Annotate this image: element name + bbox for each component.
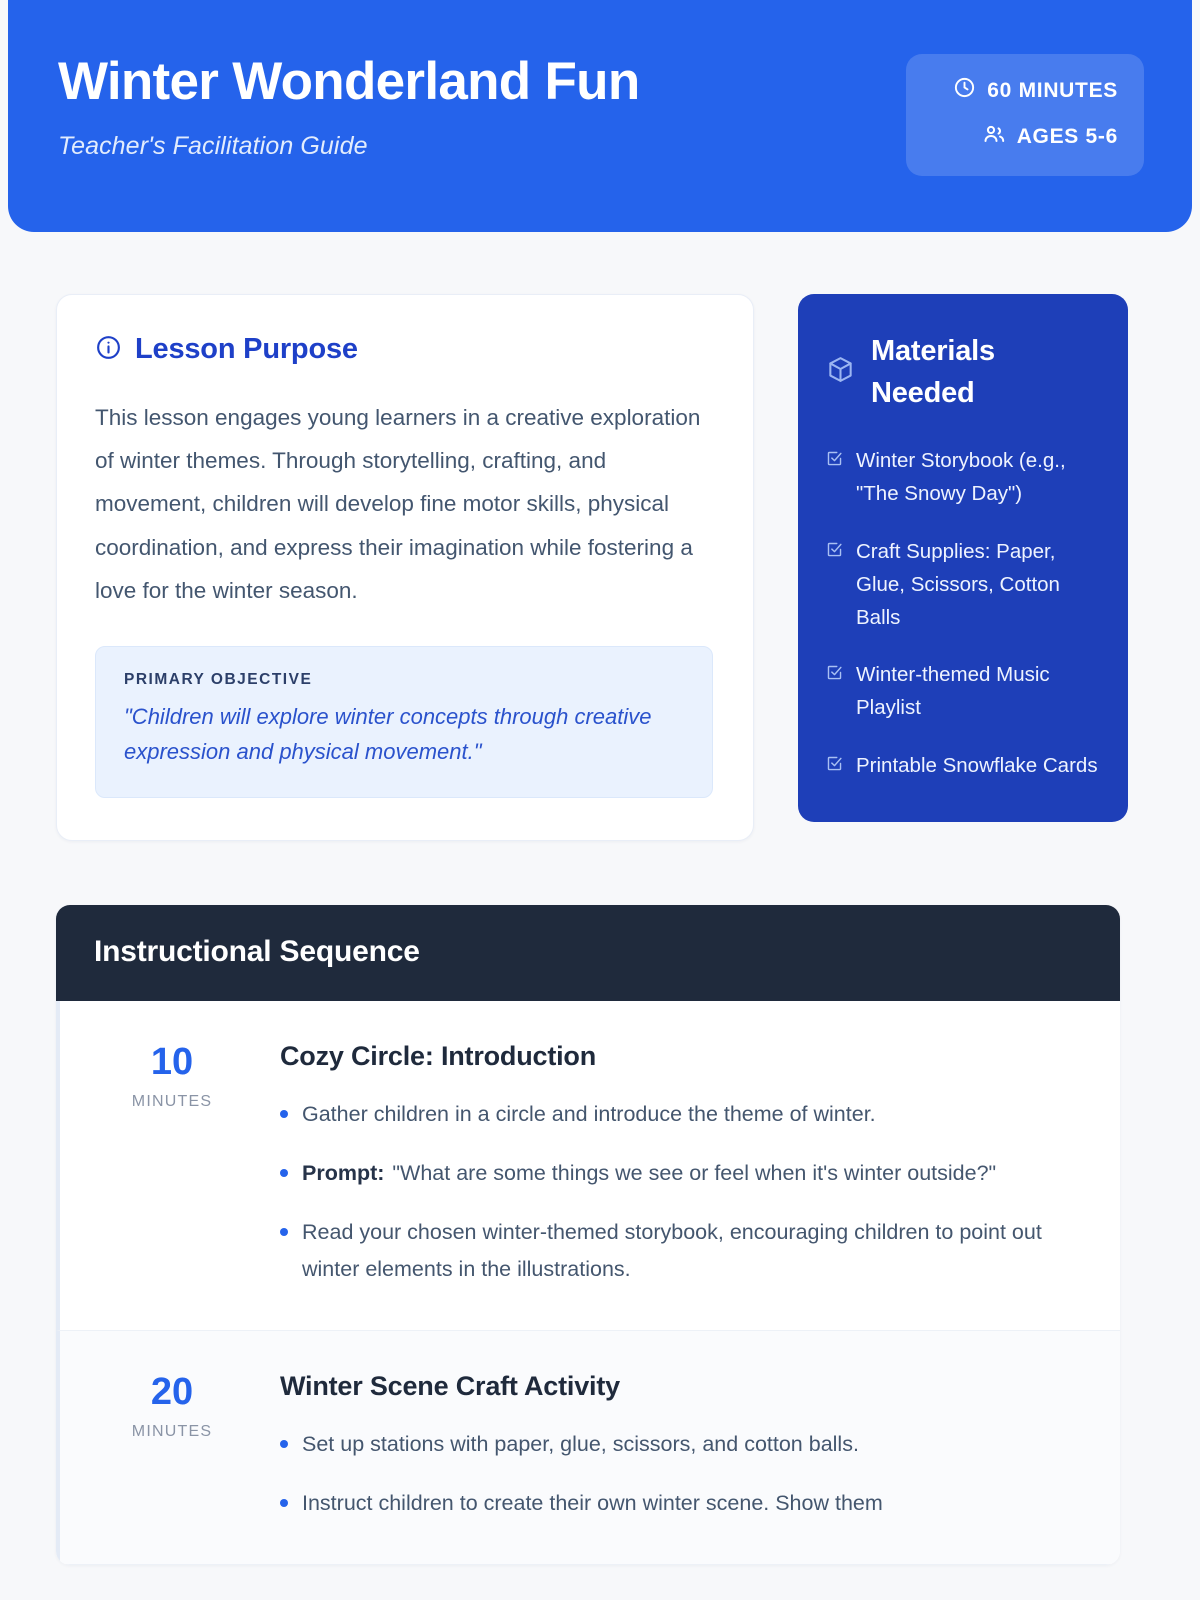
primary-objective-label: PRIMARY OBJECTIVE (124, 671, 684, 689)
bullet-dot-icon (280, 1228, 288, 1236)
materials-header: Materials Needed (826, 330, 1098, 414)
material-label: Winter-themed Music Playlist (856, 658, 1098, 724)
list-item: Craft Supplies: Paper, Glue, Scissors, C… (826, 535, 1098, 635)
step-duration: 20 MINUTES (94, 1369, 250, 1522)
step-bullet-list: Set up stations with paper, glue, scisso… (280, 1426, 1080, 1522)
check-square-icon (826, 535, 843, 568)
step-bullet-list: Gather children in a circle and introduc… (280, 1096, 1080, 1288)
bullet-text: Instruct children to create their own wi… (302, 1485, 1080, 1522)
bullet-text: Set up stations with paper, glue, scisso… (302, 1426, 1080, 1463)
step-minutes-value: 20 (94, 1373, 250, 1411)
materials-needed-card: Materials Needed Winter Storybook (e.g.,… (798, 294, 1128, 822)
check-square-icon (826, 658, 843, 691)
list-item: Prompt:"What are some things we see or f… (280, 1155, 1080, 1192)
bullet-dot-icon (280, 1499, 288, 1507)
bullet-dot-icon (280, 1440, 288, 1448)
material-label: Printable Snowflake Cards (856, 749, 1098, 782)
lesson-purpose-title: Lesson Purpose (135, 333, 358, 366)
lesson-purpose-card: Lesson Purpose This lesson engages young… (56, 294, 754, 841)
bullet-text: Gather children in a circle and introduc… (302, 1096, 1080, 1133)
clock-icon (953, 76, 976, 105)
step-duration: 10 MINUTES (94, 1039, 250, 1288)
material-label: Winter Storybook (e.g., "The Snowy Day") (856, 444, 1098, 510)
header-text-group: Winter Wonderland Fun Teacher's Facilita… (58, 50, 640, 161)
step-title: Cozy Circle: Introduction (280, 1041, 1080, 1072)
lesson-purpose-header: Lesson Purpose (95, 333, 713, 366)
page-header: Winter Wonderland Fun Teacher's Facilita… (8, 0, 1192, 232)
materials-title: Materials Needed (871, 330, 1098, 414)
users-icon (982, 122, 1006, 152)
instructional-sequence-header: Instructional Sequence (56, 905, 1120, 1001)
list-item: Winter Storybook (e.g., "The Snowy Day") (826, 444, 1098, 510)
sequence-step: 10 MINUTES Cozy Circle: Introduction Gat… (56, 1001, 1120, 1331)
material-label: Craft Supplies: Paper, Glue, Scissors, C… (856, 535, 1098, 635)
ages-row: AGES 5-6 (932, 122, 1118, 152)
duration-label: 60 MINUTES (987, 79, 1118, 103)
list-item: Winter-themed Music Playlist (826, 658, 1098, 724)
primary-objective-callout: PRIMARY OBJECTIVE "Children will explore… (95, 646, 713, 799)
primary-objective-quote: "Children will explore winter concepts t… (124, 700, 684, 770)
step-content: Cozy Circle: Introduction Gather childre… (280, 1039, 1080, 1288)
check-square-icon (826, 444, 843, 477)
list-item: Gather children in a circle and introduc… (280, 1096, 1080, 1133)
duration-row: 60 MINUTES (932, 76, 1118, 105)
bullet-dot-icon (280, 1169, 288, 1177)
instructional-sequence-card: Instructional Sequence 10 MINUTES Cozy C… (56, 905, 1120, 1565)
step-minutes-unit: MINUTES (94, 1093, 250, 1111)
package-box-icon (826, 355, 855, 389)
lesson-purpose-body: This lesson engages young learners in a … (95, 396, 713, 612)
bullet-text: Read your chosen winter-themed storybook… (302, 1214, 1080, 1288)
page-subtitle: Teacher's Facilitation Guide (58, 132, 640, 161)
step-title: Winter Scene Craft Activity (280, 1371, 1080, 1402)
overview-section: Lesson Purpose This lesson engages young… (0, 232, 1200, 841)
step-minutes-value: 10 (94, 1043, 250, 1081)
ages-label: AGES 5-6 (1017, 125, 1118, 149)
lesson-plan-page: Winter Wonderland Fun Teacher's Facilita… (0, 0, 1200, 1600)
info-circle-icon (95, 334, 122, 366)
page-title: Winter Wonderland Fun (58, 54, 640, 110)
bullet-dot-icon (280, 1110, 288, 1118)
list-item: Instruct children to create their own wi… (280, 1485, 1080, 1522)
list-item: Set up stations with paper, glue, scisso… (280, 1426, 1080, 1463)
list-item: Read your chosen winter-themed storybook… (280, 1214, 1080, 1288)
step-content: Winter Scene Craft Activity Set up stati… (280, 1369, 1080, 1522)
lesson-meta-badge: 60 MINUTES AGES 5-6 (906, 54, 1144, 176)
bullet-body: "What are some things we see or feel whe… (392, 1161, 996, 1185)
step-minutes-unit: MINUTES (94, 1423, 250, 1441)
instructional-sequence-title: Instructional Sequence (94, 935, 1082, 969)
sequence-step: 20 MINUTES Winter Scene Craft Activity S… (56, 1331, 1120, 1565)
materials-list: Winter Storybook (e.g., "The Snowy Day")… (826, 444, 1098, 782)
bullet-lead: Prompt: (302, 1161, 384, 1185)
list-item: Printable Snowflake Cards (826, 749, 1098, 782)
bullet-text: Prompt:"What are some things we see or f… (302, 1155, 1080, 1192)
check-square-icon (826, 749, 843, 782)
